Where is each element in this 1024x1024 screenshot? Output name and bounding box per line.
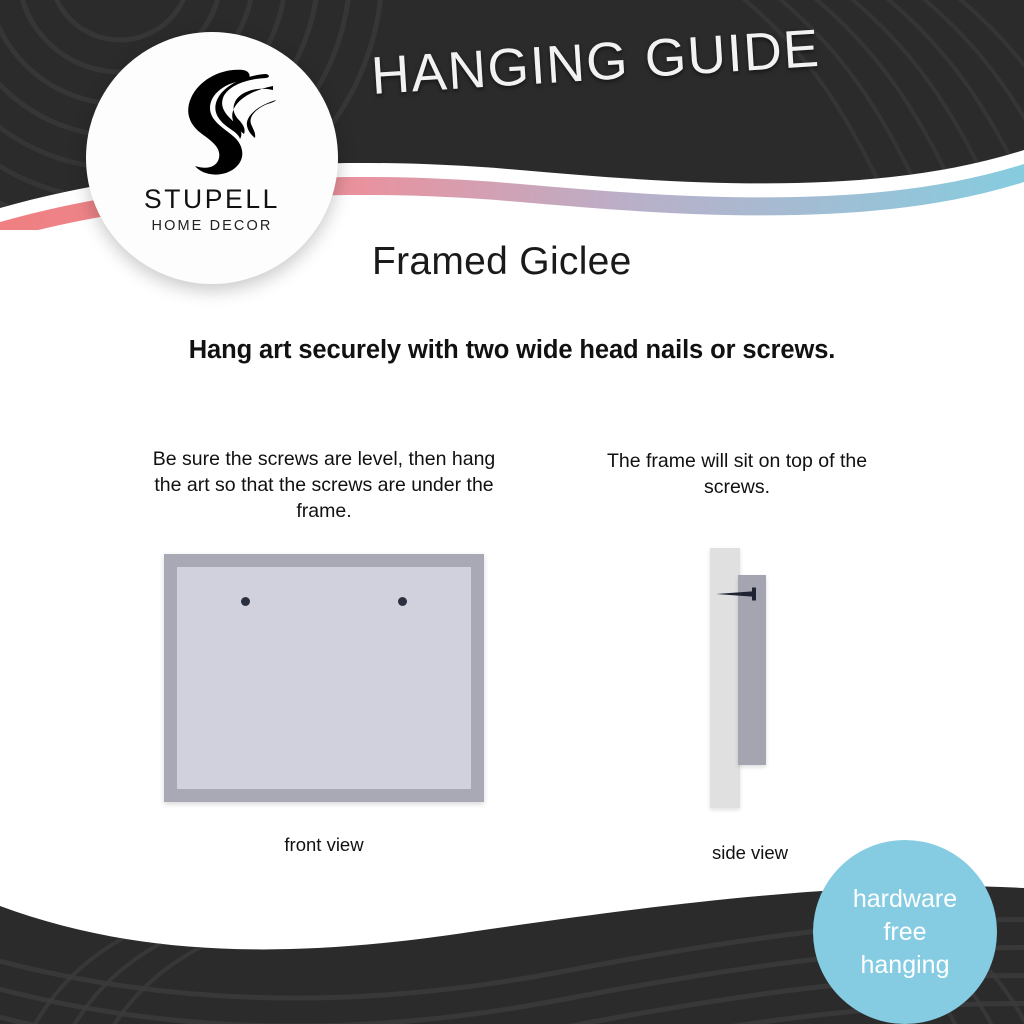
front-view-caption: Be sure the screws are level, then hang … [140,446,508,524]
page-title: HANGING GUIDE [369,13,892,107]
brand-logo-badge: STUPELL HOME DECOR [86,32,338,284]
side-view-frame [738,575,766,765]
hardware-free-hanging-badge: hardware free hanging [813,840,997,1024]
front-view-label: front view [164,834,484,856]
badge-line-3: hanging [861,949,950,982]
badge-line-2: free [883,916,926,949]
swan-flourish-logo-icon [147,60,277,178]
page-title-wrapper: HANGING GUIDE [369,13,893,125]
brand-tagline: HOME DECOR [152,218,273,234]
side-view-diagram [700,545,800,815]
badge-line-1: hardware [853,883,957,916]
product-type-title: Framed Giclee [372,240,632,284]
main-instruction-text: Hang art securely with two wide head nai… [0,336,1024,365]
brand-name: STUPELL [144,184,280,215]
front-view-art-panel [177,567,471,789]
hanging-guide-page: HANGING GUIDE STUPELL HOME DECOR Framed … [0,0,1024,1024]
side-view-caption: The frame will sit on top of the screws. [592,448,882,500]
side-view-label: side view [650,842,850,864]
screw-dot-left [241,597,250,606]
screw-dot-right [398,597,407,606]
nail-icon [714,587,764,601]
front-view-frame-diagram [164,554,484,802]
